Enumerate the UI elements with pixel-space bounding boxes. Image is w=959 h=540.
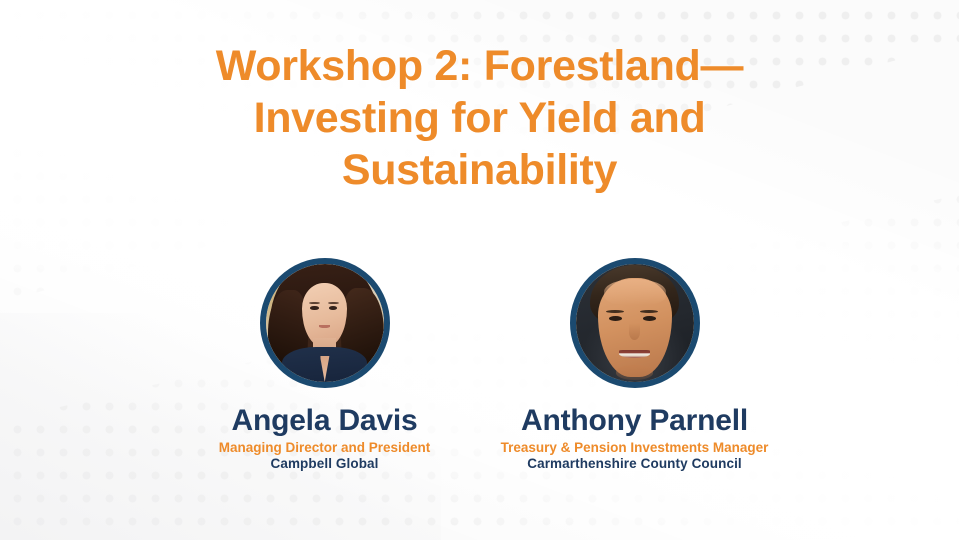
speaker-organization: Carmarthenshire County Council (527, 456, 742, 472)
page-title: Workshop 2: Forestland— Investing for Yi… (0, 40, 959, 196)
speaker-name: Anthony Parnell (521, 404, 748, 438)
portrait-anthony-parnell (576, 264, 694, 382)
avatar (570, 258, 700, 388)
portrait-forehead (604, 279, 667, 305)
portrait-brow-left (309, 302, 320, 304)
speaker-card-anthony-parnell: Anthony Parnell Treasury & Pension Inves… (470, 258, 800, 472)
portrait-eye-left (609, 316, 622, 321)
portrait-eye-right (643, 316, 656, 321)
portrait-chin (616, 365, 654, 379)
speaker-organization: Campbell Global (270, 456, 378, 472)
portrait-brow-right (328, 302, 339, 304)
speaker-role: Managing Director and President (219, 440, 431, 456)
title-line-3: Sustainability (0, 144, 959, 196)
slide-root: Workshop 2: Forestland— Investing for Yi… (0, 0, 959, 540)
portrait-angela-davis (266, 264, 384, 382)
title-line-1: Workshop 2: Forestland— (0, 40, 959, 92)
avatar (260, 258, 390, 388)
speaker-role: Treasury & Pension Investments Manager (501, 440, 769, 456)
portrait-face (302, 283, 347, 347)
portrait-nose (629, 323, 641, 340)
speaker-card-angela-davis: Angela Davis Managing Director and Presi… (160, 258, 490, 472)
speaker-name: Angela Davis (231, 404, 417, 438)
title-line-2: Investing for Yield and (0, 92, 959, 144)
speaker-list: Angela Davis Managing Director and Presi… (0, 258, 959, 472)
